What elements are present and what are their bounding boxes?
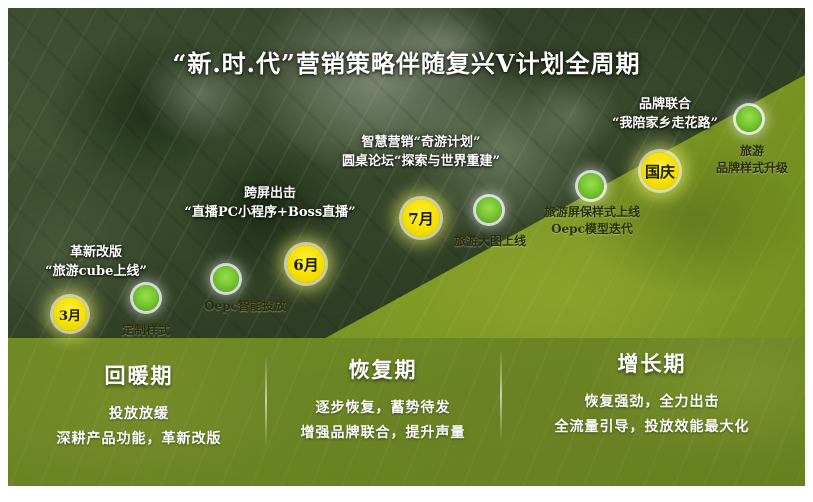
phase-line: 投放放缓 [14, 402, 264, 427]
timeline-node-m7[interactable] [578, 173, 604, 199]
milestone-sub-line: 品牌样式升级 [700, 160, 804, 177]
month-badge-7[interactable]: 7月 [402, 199, 440, 237]
phase-line: 恢复强劲，全力出击 [502, 390, 802, 415]
milestone-caption-line: “我陪家乡走花路” [540, 115, 790, 134]
phase-title: 回暖期 [14, 360, 264, 390]
milestone-sub-line: Oepc模型迭代 [521, 221, 663, 238]
milestone-caption-line: 跨屏出击 [140, 185, 400, 204]
milestone-sub-line: 定制样式 [91, 322, 201, 339]
milestone-caption-m4: 跨屏出击 “直播PC小程序+Boss直播” [140, 185, 400, 223]
milestone-caption-line: “直播PC小程序+Boss直播” [140, 204, 400, 223]
page-title: “新.时.代”营销策略伴随复兴V计划全周期 [0, 44, 813, 79]
milestone-caption-line: “旅游cube上线” [10, 263, 182, 282]
milestone-caption-m9: 旅游 品牌样式升级 [700, 143, 804, 178]
milestone-caption-line: 品牌联合 [540, 96, 790, 115]
milestone-caption-m8: 品牌联合 “我陪家乡走花路” [540, 96, 790, 134]
timeline-node-m6[interactable] [476, 197, 502, 223]
phase-title: 恢复期 [266, 354, 500, 384]
timeline-node-m3[interactable] [213, 266, 239, 292]
milestone-caption-m5: 智慧营销“奇游计划” 圆桌论坛“探索与世界重建” [277, 134, 565, 172]
phase-line: 增强品牌联合，提升声量 [266, 421, 500, 446]
milestone-sub-line: 旅游屏保样式上线 [521, 204, 663, 221]
milestone-caption-line: 智慧营销“奇游计划” [277, 134, 565, 153]
month-badge-6[interactable]: 6月 [287, 245, 325, 283]
timeline-node-m2[interactable] [133, 285, 159, 311]
phase-line: 深耕产品功能，革新改版 [14, 427, 264, 452]
milestone-sub-line: Oepc智能投放 [180, 298, 310, 315]
milestone-caption-m3: Oepc智能投放 [180, 298, 310, 315]
phase-line: 逐步恢复，蓄势待发 [266, 396, 500, 421]
phase-block-1: 回暖期 投放放缓 深耕产品功能，革新改版 [14, 360, 264, 451]
phase-line: 全流量引导，投放效能最大化 [502, 415, 802, 440]
milestone-caption-m1: 革新改版 “旅游cube上线” [10, 244, 182, 282]
milestone-caption-line: 圆桌论坛“探索与世界重建” [277, 153, 565, 172]
phase-block-2: 恢复期 逐步恢复，蓄势待发 增强品牌联合，提升声量 [266, 354, 500, 445]
poster-canvas: “新.时.代”营销策略伴随复兴V计划全周期 革新改版 “旅游cube上线” 3月… [0, 0, 813, 502]
milestone-caption-line: 革新改版 [10, 244, 182, 263]
milestone-caption-m2: 定制样式 [91, 322, 201, 339]
milestone-sub-line: 旅游 [700, 143, 804, 160]
month-badge-3[interactable]: 3月 [53, 297, 87, 331]
milestone-caption-m7: 旅游屏保样式上线 Oepc模型迭代 [521, 204, 663, 239]
phase-block-3: 增长期 恢复强劲，全力出击 全流量引导，投放效能最大化 [502, 348, 802, 439]
phase-title: 增长期 [502, 348, 802, 378]
month-badge-guoqing[interactable]: 国庆 [641, 152, 679, 190]
